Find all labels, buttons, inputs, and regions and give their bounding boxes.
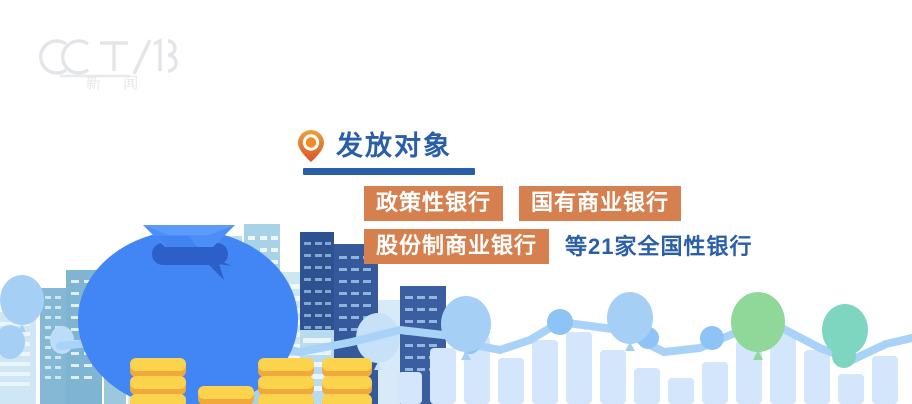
tag-joint-stock-commercial-bank: 股份制商业银行 — [364, 229, 549, 264]
tag-state-commercial-bank: 国有商业银行 — [519, 186, 681, 221]
balloon-icon — [0, 275, 400, 370]
svg-text:新 闻: 新 闻 — [86, 75, 147, 90]
tag-row: 政策性银行 国有商业银行 — [364, 186, 904, 221]
broadcast-graphic-screen: 新 闻 发放对象 政策性银行 国有商业银行 股份制商业银行 等21家全国性银行 — [0, 0, 912, 404]
tag-row: 股份制商业银行 等21家全国性银行 — [364, 229, 904, 264]
bar-series — [398, 332, 898, 404]
page-title-row: 发放对象 — [296, 126, 896, 166]
tag-policy-bank: 政策性银行 — [364, 186, 503, 221]
line-marker — [547, 309, 573, 335]
line-marker — [460, 334, 480, 354]
line-marker — [745, 317, 771, 343]
line-marker — [832, 344, 856, 368]
location-pin-icon — [296, 129, 326, 163]
page-title: 发放对象 — [336, 129, 452, 163]
line-marker — [700, 326, 724, 350]
balloon-icon — [441, 292, 868, 363]
headline-block: 发放对象 — [296, 126, 896, 166]
tag-list: 政策性银行 国有商业银行 股份制商业银行 等21家全国性银行 — [364, 186, 904, 272]
line-marker — [201, 307, 223, 329]
tag-total-national-banks: 等21家全国性银行 — [565, 233, 752, 260]
title-underline — [303, 168, 475, 175]
coin-stack-icon — [130, 358, 372, 404]
line-marker — [637, 327, 659, 349]
cctv13-watermark-logo: 新 闻 — [38, 28, 178, 90]
money-bag-icon — [78, 225, 298, 404]
line-series — [60, 307, 912, 368]
